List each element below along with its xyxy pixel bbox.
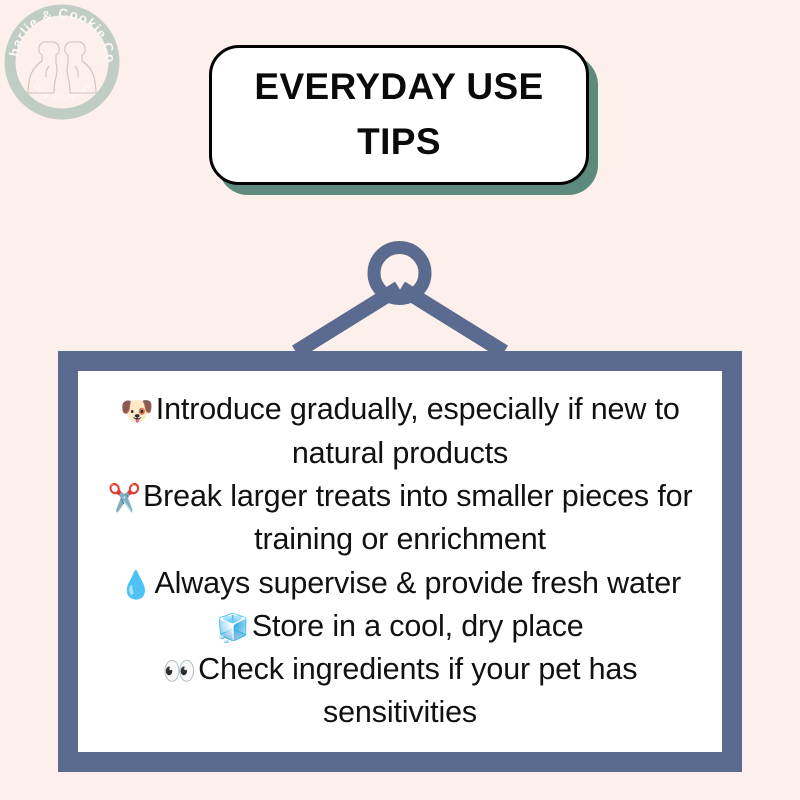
tip-item-2: ✂️Break larger treats into smaller piece…: [92, 475, 708, 562]
tip-text-5: Check ingredients if your pet has sensit…: [198, 652, 637, 729]
logo-bottom-text: Dog Supplies: [30, 80, 94, 103]
ice-cube-emoji: 🧊: [216, 613, 249, 643]
page-title-line-1: EVERYDAY USE: [254, 60, 543, 115]
title-banner: EVERYDAY USE TIPS: [209, 45, 589, 185]
logo-top-text: Charlie & Cookie Co.: [4, 4, 118, 64]
tip-item-1: 🐶Introduce gradually, especially if new …: [92, 388, 708, 475]
sign-hanger: [270, 228, 530, 358]
scissors-emoji: ✂️: [107, 483, 140, 513]
eyes-emoji: 👀: [163, 656, 196, 686]
tip-item-5: 👀Check ingredients if your pet has sensi…: [92, 648, 708, 735]
tip-text-4: Store in a cool, dry place: [252, 609, 584, 643]
tip-text-3: Always supervise & provide fresh water: [154, 566, 681, 600]
title-banner-wrapper: EVERYDAY USE TIPS: [209, 45, 589, 185]
tip-item-3: 💧Always supervise & provide fresh water: [92, 562, 708, 605]
tips-board-inner: 🐶Introduce gradually, especially if new …: [78, 371, 722, 752]
tip-text-2: Break larger treats into smaller pieces …: [143, 479, 693, 556]
page-title-line-2: TIPS: [357, 115, 441, 170]
droplet-emoji: 💧: [119, 570, 152, 600]
tip-item-4: 🧊Store in a cool, dry place: [92, 605, 708, 648]
brand-logo: Charlie & Cookie Co. Dog Supplies: [4, 4, 120, 120]
tip-text-1: Introduce gradually, especially if new t…: [156, 392, 680, 469]
tips-board: 🐶Introduce gradually, especially if new …: [58, 351, 742, 772]
dog-face-emoji: 🐶: [120, 396, 153, 426]
